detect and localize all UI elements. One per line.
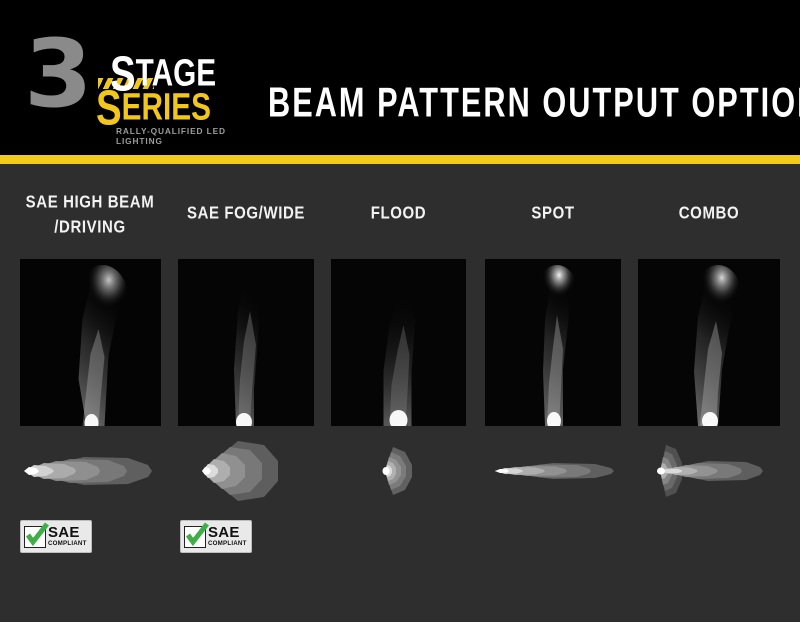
badge-line1: SAE [208,525,247,540]
column-combo: COMBO [638,164,780,622]
beam-diagram-fog-wide [178,436,314,506]
badge-text: SAE COMPLIANT [48,525,87,547]
night-beam-photo-image [178,259,314,426]
column-sae-fog-wide: SAE FOG/WIDE [178,164,314,622]
night-beam-photo-image [20,259,161,426]
column-sae-high-beam-driving: SAE HIGH BEAM /DRIVING [20,164,161,622]
beam-photo-combo [638,259,780,426]
check-box [24,526,46,548]
logo-numeral-3: 3 [24,28,88,122]
header-banner: 3 STAGE SERIES RALLY-QUALIFIED LED LIGHT… [0,0,800,155]
beam-diagram-driving [20,436,161,506]
night-beam-photo-image [638,259,780,426]
beam-shape-spot [485,436,621,506]
beam-pattern-infographic: 3 STAGE SERIES RALLY-QUALIFIED LED LIGHT… [0,0,800,622]
beam-shape-driving [20,436,161,506]
stage-series-logo: 3 STAGE SERIES RALLY-QUALIFIED LED LIGHT… [24,26,239,126]
column-label-line1: COMBO [679,203,740,223]
column-label-line1: SAE FOG/WIDE [187,203,305,223]
badge-line2: COMPLIANT [48,541,87,547]
column-spot: SPOT [485,164,621,622]
beam-diagram-combo [638,436,780,506]
checkmark-icon [182,520,212,550]
beam-diagram-flood [331,436,466,506]
column-label-line2: /DRIVING [54,217,125,237]
column-label: COMBO [638,201,780,226]
column-label: SAE FOG/WIDE [171,201,321,226]
beam-shape-fog-wide [178,436,314,506]
column-label: SAE HIGH BEAM /DRIVING [15,190,165,240]
badge-line2: COMPLIANT [208,541,247,547]
badge-text: SAE COMPLIANT [208,525,247,547]
beam-diagram-spot [485,436,621,506]
night-beam-photo-image [331,259,466,426]
beam-shape-combo [638,436,780,506]
beam-photo-spot [485,259,621,426]
night-beam-photo-image [485,259,621,426]
column-label-line1: FLOOD [371,203,427,223]
logo-word-series: SERIES [96,88,211,128]
beam-photo-driving [20,259,161,426]
column-label: SPOT [485,201,621,226]
logo-tagline: RALLY-QUALIFIED LED LIGHTING [116,126,237,146]
column-label-line1: SAE HIGH BEAM [26,192,155,212]
column-label-line1: SPOT [531,203,574,223]
badge-line1: SAE [48,525,87,540]
accent-divider-bar [0,155,800,164]
checkmark-icon [22,520,52,550]
check-box [184,526,206,548]
beam-photo-flood [331,259,466,426]
beam-photo-fog-wide [178,259,314,426]
page-title: BEAM PATTERN OUTPUT OPTIONS [268,79,800,127]
sae-compliant-badge: SAE COMPLIANT [20,520,92,553]
column-flood: FLOOD [331,164,466,622]
beam-shape-flood [331,436,466,506]
sae-compliant-badge: SAE COMPLIANT [180,520,252,553]
column-label: FLOOD [331,201,466,226]
